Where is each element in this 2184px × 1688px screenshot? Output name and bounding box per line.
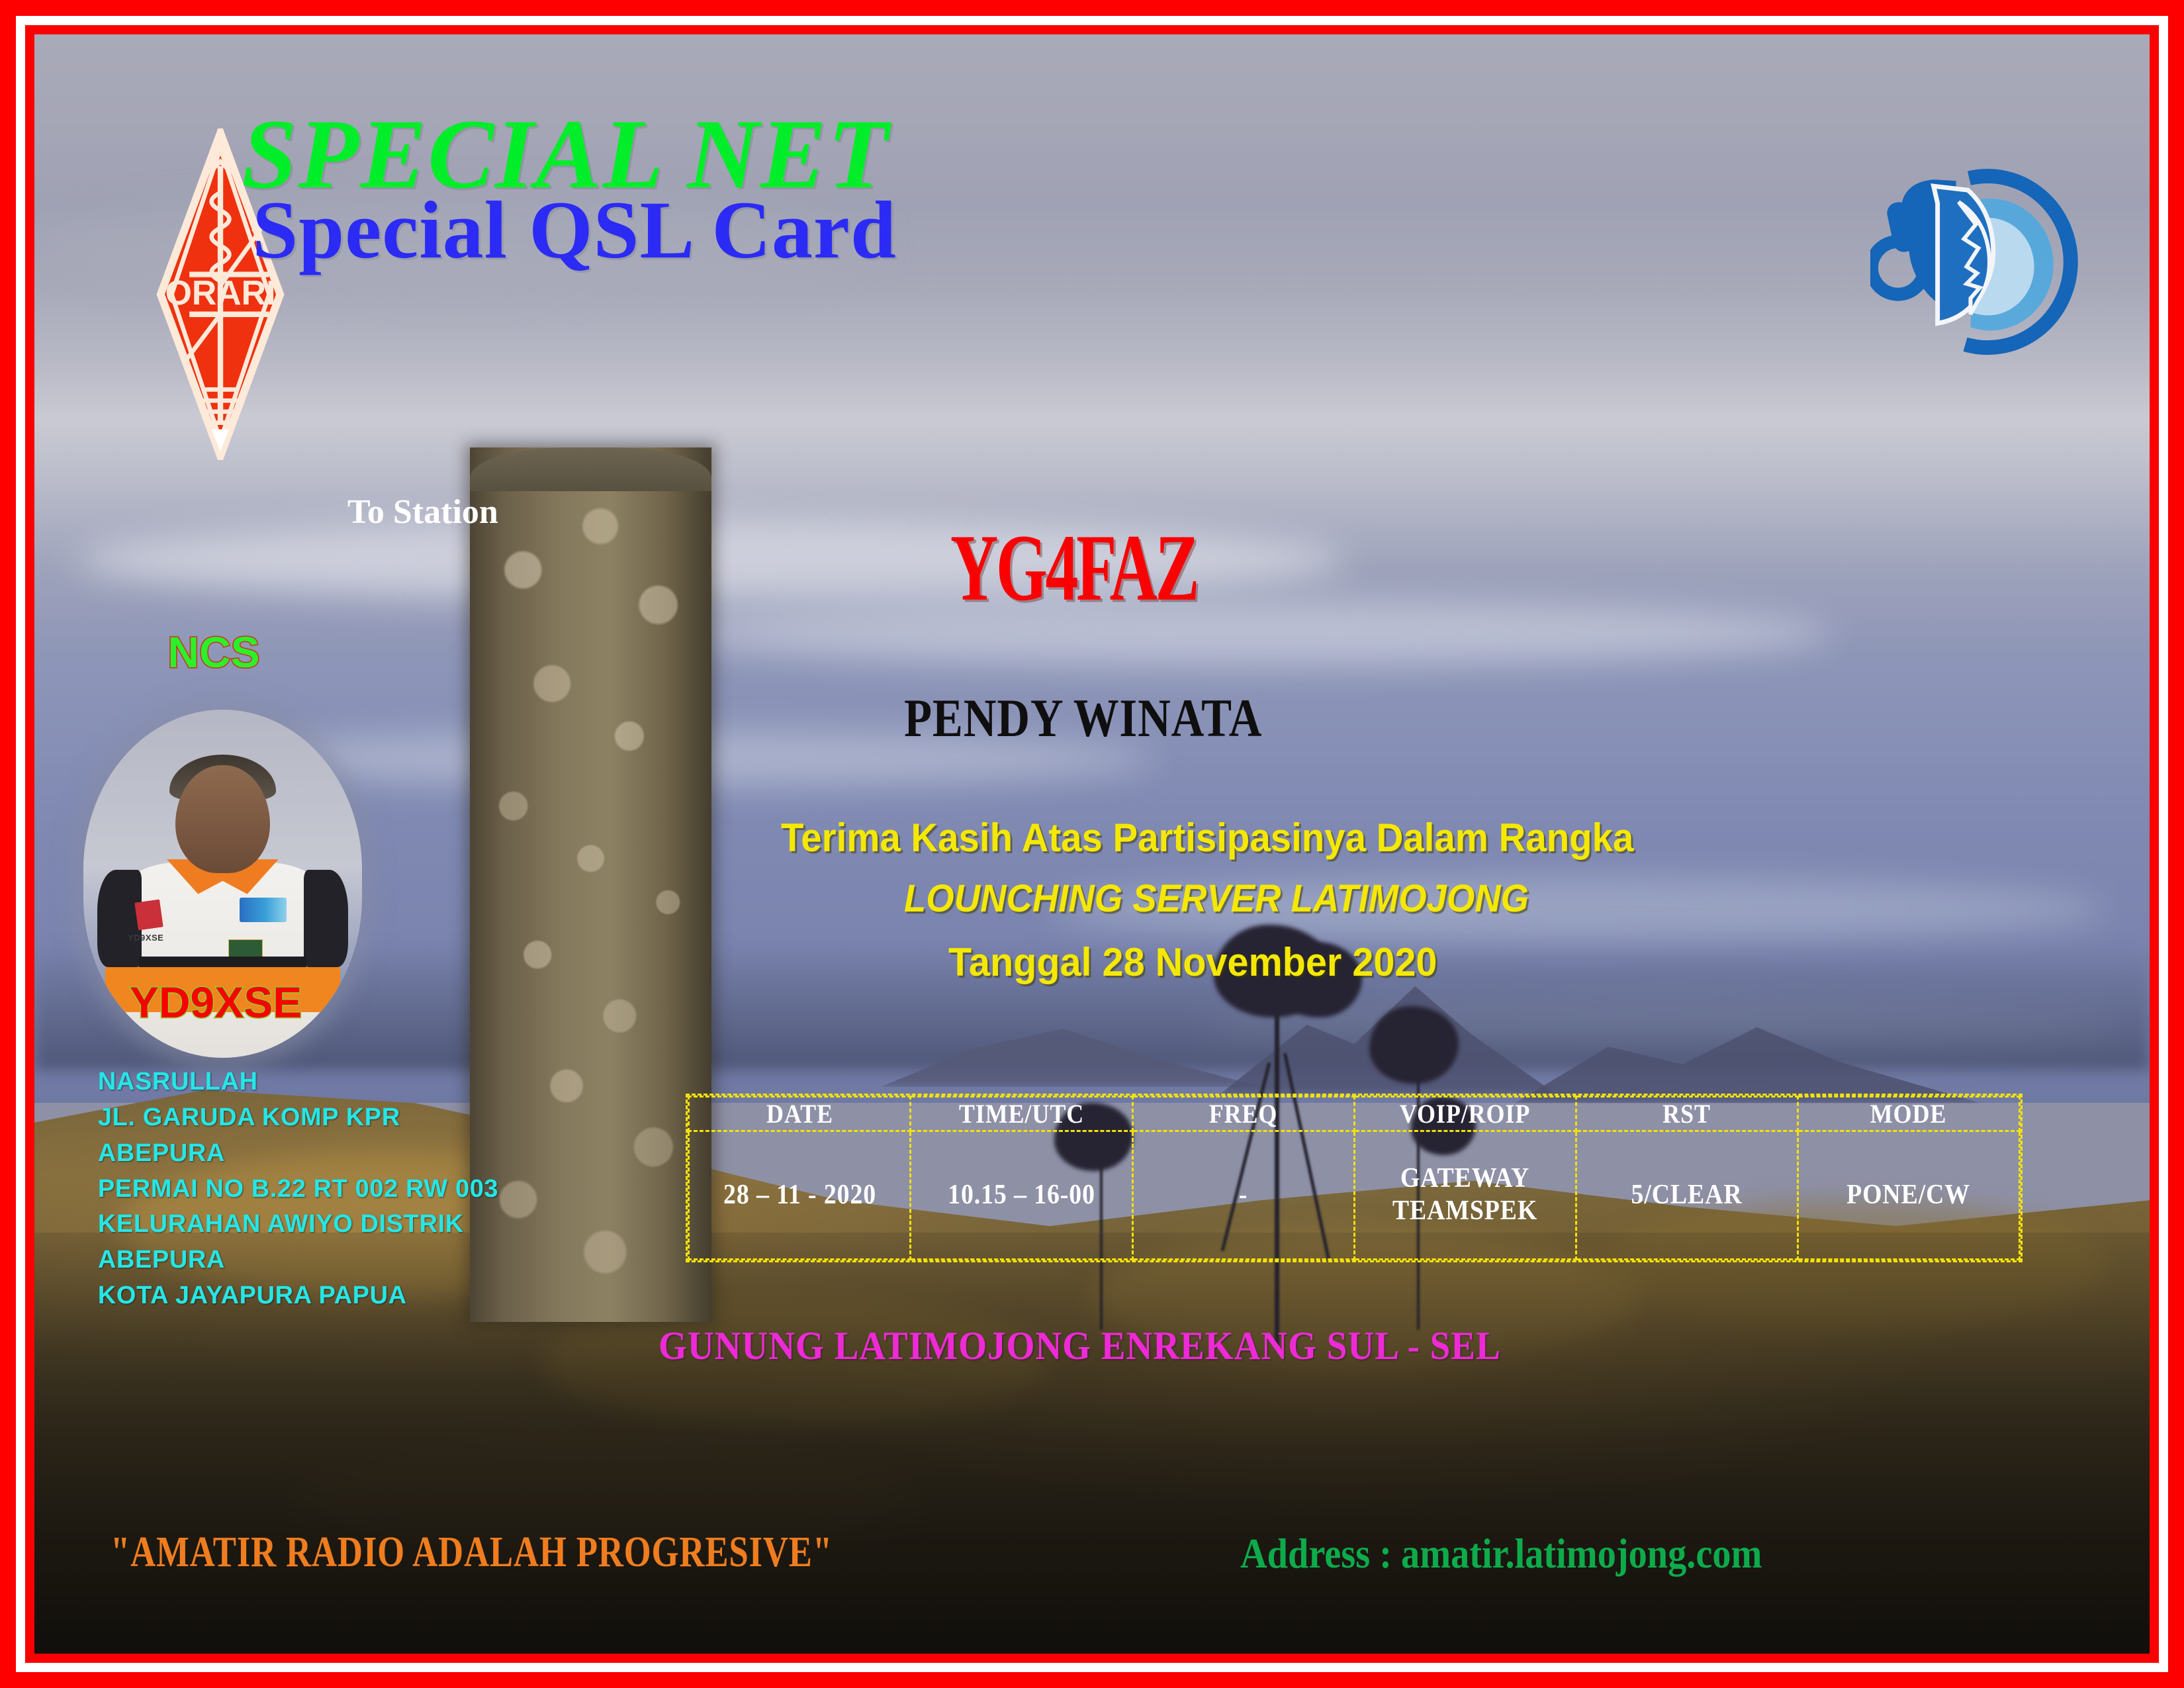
- address-line: ABEPURA: [98, 1136, 498, 1172]
- column-header-rst: RST: [1587, 1096, 1787, 1131]
- frame-inner-red: ORARI YD9X: [25, 25, 2159, 1663]
- column-header-mode: MODE: [1809, 1096, 2009, 1131]
- qso-log-table: DATE TIME/UTC FREQ VOIP/ROIP RST MODE 28…: [686, 1094, 2022, 1262]
- table-header-row: DATE TIME/UTC FREQ VOIP/ROIP RST MODE: [689, 1096, 2019, 1131]
- address-line: JL. GARUDA KOMP KPR: [98, 1100, 498, 1136]
- uniform-patch: [134, 900, 163, 931]
- uniform-callsign-text: YD9XSE: [128, 933, 163, 943]
- cloud-band: [669, 601, 1833, 666]
- address-line: KELURAHAN AWIYO DISTRIK: [98, 1207, 498, 1243]
- ncs-callsign: YD9XSE: [130, 977, 302, 1027]
- cell-freq: -: [1144, 1131, 1343, 1259]
- event-thanks-line: Terima Kasih Atas Partisipasinya Dalam R…: [781, 815, 1633, 861]
- headset-profile-logo: [1870, 120, 2095, 402]
- sender-address-block: NASRULLAH JL. GARUDA KOMP KPR ABEPURA PE…: [98, 1064, 498, 1315]
- stone-monument-pillar: [470, 447, 711, 1322]
- uniform-shoulder-right: [304, 870, 348, 967]
- qsl-card: ORARI YD9X: [0, 0, 2184, 1688]
- cell-rst: 5/CLEAR: [1587, 1131, 1787, 1259]
- ncs-label: NCS: [167, 627, 259, 677]
- address-line: NASRULLAH: [98, 1064, 498, 1100]
- column-header-freq: FREQ: [1144, 1096, 1343, 1131]
- page-subtitle-special-qsl-card: Special QSL Card: [252, 183, 897, 277]
- operator-name: PENDY WINATA: [904, 687, 1262, 749]
- footer-web-address: Address : amatir.latimojong.com: [1240, 1529, 1762, 1578]
- pillar-cap: [470, 447, 711, 491]
- cell-time-utc: 10.15 – 16-00: [922, 1131, 1122, 1259]
- card-background-photo: ORARI YD9X: [34, 34, 2150, 1654]
- column-header-date: DATE: [700, 1096, 900, 1131]
- cell-date: 28 – 11 - 2020: [700, 1131, 900, 1259]
- column-header-voip-roip: VOIP/ROIP: [1365, 1096, 1565, 1131]
- frame-white-gap: ORARI YD9X: [16, 16, 2168, 1672]
- cell-mode: PONE/CW: [1809, 1131, 2009, 1259]
- table-row: 28 – 11 - 2020 10.15 – 16-00 - GATEWAY T…: [689, 1131, 2019, 1259]
- event-date-line: Tanggal 28 November 2020: [948, 939, 1437, 985]
- station-callsign: YG4FAZ: [950, 514, 1197, 623]
- orari-logo-text: ORARI: [165, 273, 276, 312]
- uniform-org-logo: [240, 898, 287, 922]
- operator-face: [175, 765, 270, 873]
- address-line: PERMAI NO B.22 RT 002 RW 003: [98, 1172, 498, 1207]
- address-line: ABEPURA: [98, 1243, 498, 1278]
- column-header-time-utc: TIME/UTC: [922, 1096, 1122, 1131]
- footer-slogan: "AMATIR RADIO ADALAH PROGRESIVE": [111, 1527, 833, 1577]
- cell-voip-roip: GATEWAY TEAMSPEK: [1365, 1131, 1565, 1259]
- location-line: GUNUNG LATIMOJONG ENREKANG SUL - SEL: [659, 1323, 1501, 1369]
- address-line: KOTA JAYAPURA PAPUA: [98, 1278, 498, 1314]
- event-name-line: LOUNCHING SERVER LATIMOJONG: [904, 876, 1529, 921]
- to-station-label: To Station: [347, 492, 498, 532]
- uniform-shoulder-left: [97, 870, 142, 967]
